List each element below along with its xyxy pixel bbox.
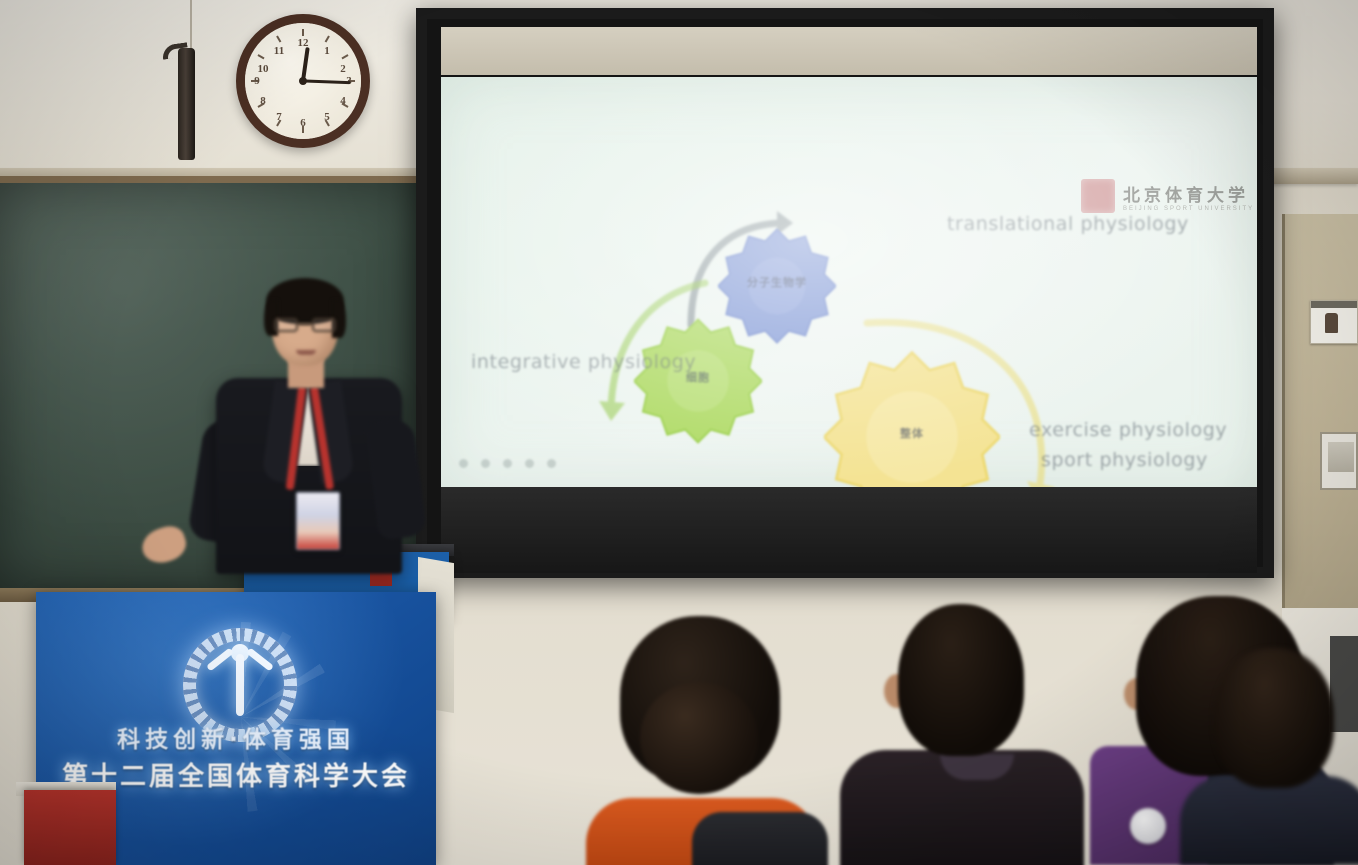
projection-screen: 北京体育大学 BEIJING SPORT UNIVERSITY (416, 8, 1274, 578)
clock-numeral: 2 (335, 63, 351, 75)
university-logo-cn: 北京体育大学 (1123, 181, 1254, 206)
audience-member (1194, 648, 1358, 865)
gear-blue-label: 分子生物学 (731, 276, 823, 290)
clock-numeral: 9 (249, 75, 265, 87)
clock-numeral: 7 (271, 111, 287, 123)
audience-dark-jacket-behind (692, 812, 828, 865)
audience-member (844, 604, 1080, 865)
lecture-room-photo: 12 1 2 3 4 5 6 7 8 9 10 11 北京体育大学 (0, 0, 1358, 865)
gear-green-label: 细胞 (648, 371, 748, 385)
wall-panel-screen (1328, 442, 1354, 472)
slide-surface: 北京体育大学 BEIJING SPORT UNIVERSITY (441, 77, 1257, 487)
banner-slogan: 科技创新·体育强国 (36, 720, 436, 754)
slide-bullet-dots (459, 459, 556, 468)
wall-poster-sign (1310, 300, 1358, 344)
clock-numeral: 5 (319, 111, 335, 123)
wall-clock: 12 1 2 3 4 5 6 7 8 9 10 11 (236, 14, 370, 148)
audience-jacket (1180, 776, 1358, 865)
presenter-glasses-icon (274, 318, 336, 333)
screen-bottom-band (441, 487, 1257, 573)
right-wall-column (1282, 214, 1358, 608)
caption-integrative-physiology: integrative physiology (471, 351, 696, 373)
emblem-body (236, 654, 244, 716)
gear-yellow-label: 整体 (843, 427, 980, 441)
gear-yellow: 整体 (824, 349, 1000, 487)
caption-exercise-physiology: exercise physiology (1029, 419, 1227, 441)
caption-sport-physiology: sport physiology (1041, 449, 1208, 471)
clock-numeral: 1 (319, 45, 335, 57)
university-logo-en: BEIJING SPORT UNIVERSITY (1123, 206, 1254, 212)
ceiling-microphone-icon (178, 48, 195, 160)
clock-numeral: 4 (335, 95, 351, 107)
audience-head (898, 604, 1024, 756)
gear-green: 细胞 (634, 317, 762, 439)
caption-translational-physiology: translational physiology (947, 213, 1189, 235)
screen-top-band (441, 27, 1257, 75)
clock-numeral: 6 (295, 117, 311, 129)
wall-control-panel[interactable] (1320, 432, 1358, 490)
presenter-mouth (296, 350, 316, 355)
clock-numeral: 10 (255, 63, 271, 75)
audience-hair-bun (640, 682, 758, 794)
audience-head (1214, 648, 1334, 788)
microphone-rod (190, 0, 192, 52)
clock-numeral: 11 (271, 45, 287, 57)
clock-center-cap (299, 77, 307, 85)
audience-round-badge (1130, 808, 1166, 844)
presenter-name-badge (296, 492, 340, 550)
university-logo-mark-icon (1081, 179, 1115, 213)
floor-red-box (24, 790, 116, 865)
clock-numeral: 8 (255, 95, 271, 107)
poster-figure-icon (1325, 313, 1338, 333)
audience-member (596, 616, 804, 865)
